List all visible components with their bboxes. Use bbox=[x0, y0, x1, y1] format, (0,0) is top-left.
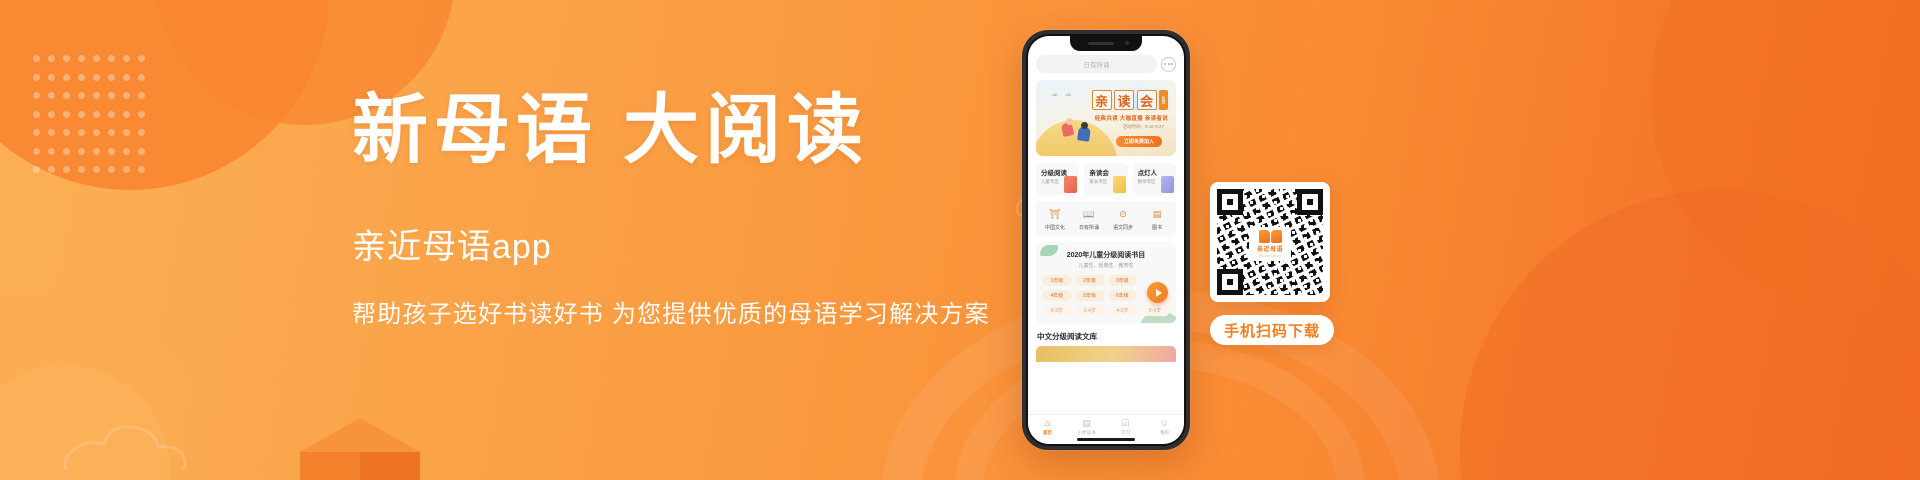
background-blob-bottom-left-2 bbox=[0, 365, 170, 480]
promo-char-1: 亲 bbox=[1092, 90, 1112, 110]
library-section-title: 中文分级阅读文库 bbox=[1036, 331, 1176, 342]
promo-char-2: 读 bbox=[1114, 90, 1134, 110]
promo-banner: 新母语 大阅读 亲近母语app 帮助孩子选好书读好书 为您提供优质的母语学习解决… bbox=[0, 0, 1920, 480]
promo-card[interactable]: ᨒ ᨒ 亲 读 会 免费 经典共读 大咖直播 亲读者说 活动时间：9.16-9 bbox=[1036, 80, 1176, 156]
search-bar: 日有所诵 bbox=[1036, 55, 1176, 73]
brand-pinyin: QINJIN MUYU bbox=[1259, 254, 1282, 258]
promo-join-button[interactable]: 立即免费加入 bbox=[1116, 136, 1162, 147]
book-icon: ▤ bbox=[1082, 419, 1091, 428]
phone-mockup: 日有所诵 ᨒ ᨒ 亲 读 会 bbox=[1022, 30, 1190, 450]
person-icon bbox=[1161, 176, 1174, 193]
promo-title: 亲 读 会 免费 bbox=[1092, 90, 1169, 110]
book-open-icon: 📖 bbox=[1082, 207, 1096, 221]
tab-home[interactable]: ⌂ 首页 bbox=[1028, 419, 1067, 436]
category-cards: 分级阅读 儿童专区 亲读会 家长专区 点灯人 教师专区 bbox=[1036, 163, 1176, 195]
sync-icon: ⊙ bbox=[1116, 207, 1130, 221]
qr-code[interactable]: 亲近母语 QINJIN MUYU bbox=[1217, 189, 1323, 295]
qr-finder-bottom-left bbox=[1217, 269, 1243, 295]
qr-finder-top-left bbox=[1217, 189, 1243, 215]
background-blob-bottom-left bbox=[0, 290, 210, 480]
tab-label: 小步读书 bbox=[1078, 430, 1096, 436]
search-input[interactable]: 日有所诵 bbox=[1036, 55, 1157, 73]
phone-bezel: 日有所诵 ᨒ ᨒ 亲 读 会 bbox=[1026, 34, 1186, 446]
library-cover-strip[interactable] bbox=[1036, 346, 1176, 362]
category-card-graded-reading[interactable]: 分级阅读 儿童专区 bbox=[1036, 163, 1079, 195]
grade-chip[interactable]: 2年级 bbox=[1075, 275, 1105, 286]
promo-free-tag: 免费 bbox=[1159, 90, 1168, 110]
home-icon: ⌂ bbox=[1045, 419, 1050, 428]
library-icon: ▤ bbox=[1150, 207, 1164, 221]
promo-date: 活动时间：9.16-9.27 bbox=[1122, 124, 1164, 130]
tab-label: 首页 bbox=[1043, 430, 1052, 436]
age-chip[interactable]: 5-6岁 bbox=[1140, 305, 1170, 316]
promo-subtitle: 经典共读 大咖直播 亲读者说 bbox=[1095, 114, 1168, 122]
tab-reading[interactable]: ▤ 小步读书 bbox=[1067, 419, 1106, 436]
booklist-title: 2020年儿童分级阅读书目 bbox=[1042, 250, 1170, 260]
book-logo-icon bbox=[1259, 230, 1282, 243]
tab-label: 学习 bbox=[1121, 430, 1130, 436]
qr-card: 亲近母语 QINJIN MUYU bbox=[1210, 182, 1330, 302]
banner-copy: 新母语 大阅读 亲近母语app 帮助孩子选好书读好书 为您提供优质的母语学习解决… bbox=[352, 92, 1032, 329]
more-options-icon[interactable] bbox=[1161, 57, 1176, 72]
child-head-1 bbox=[1066, 118, 1073, 125]
quick-link-textbook-sync[interactable]: ⊙ 语文同步 bbox=[1106, 207, 1140, 231]
quick-link-chinese-culture[interactable]: ⛩ 中国文化 bbox=[1038, 207, 1072, 231]
promo-char-3: 会 bbox=[1137, 90, 1157, 110]
age-chip[interactable]: 3-4岁 bbox=[1075, 305, 1105, 316]
download-button[interactable]: 手机扫码下载 bbox=[1210, 315, 1334, 345]
tab-study[interactable]: ☑ 学习 bbox=[1106, 419, 1145, 436]
home-indicator bbox=[1077, 438, 1135, 441]
tagline: 帮助孩子选好书读好书 为您提供优质的母语学习解决方案 bbox=[352, 294, 1032, 329]
qr-center-logo: 亲近母语 QINJIN MUYU bbox=[1249, 227, 1291, 261]
grade-chip[interactable]: 5年级 bbox=[1075, 290, 1105, 301]
grade-chip[interactable]: 4年级 bbox=[1042, 290, 1072, 301]
background-blob-top-right bbox=[1650, 0, 1920, 310]
child-head-2 bbox=[1081, 122, 1088, 129]
birds-icon: ᨒ ᨒ bbox=[1052, 92, 1075, 98]
quick-link-label: 日有所诵 bbox=[1079, 224, 1099, 231]
grade-chip[interactable]: 1年级 bbox=[1042, 275, 1072, 286]
phone-notch bbox=[1070, 36, 1142, 51]
user-icon: ☺ bbox=[1160, 419, 1169, 428]
tab-profile[interactable]: ☺ 我的 bbox=[1145, 419, 1184, 436]
book-icon bbox=[1113, 176, 1126, 193]
quick-link-daily-recite[interactable]: 📖 日有所诵 bbox=[1072, 207, 1106, 231]
cube-decoration bbox=[300, 418, 420, 480]
play-button[interactable] bbox=[1147, 282, 1168, 303]
booklist-subtitle: 儿童性、经典性、教育性 bbox=[1042, 262, 1170, 269]
quick-link-label: 语文同步 bbox=[1113, 224, 1133, 231]
brand-name: 亲近母语 bbox=[1257, 244, 1283, 253]
app-name: 亲近母语app bbox=[352, 219, 1032, 268]
quick-link-books[interactable]: ▤ 图书 bbox=[1140, 207, 1174, 231]
background-blob-bottom-right bbox=[1460, 190, 1920, 480]
temple-icon: ⛩ bbox=[1048, 207, 1062, 221]
quick-link-label: 中国文化 bbox=[1045, 224, 1065, 231]
qr-finder-top-right bbox=[1297, 189, 1323, 215]
quick-links-row: ⛩ 中国文化 📖 日有所诵 ⊙ 语文同步 ▤ bbox=[1036, 201, 1176, 236]
page-title: 新母语 大阅读 bbox=[352, 92, 1032, 171]
book-icon bbox=[1064, 176, 1077, 193]
speaker-icon bbox=[1088, 42, 1114, 45]
age-chip[interactable]: 0-3岁 bbox=[1042, 305, 1072, 316]
category-card-teacher[interactable]: 点灯人 教师专区 bbox=[1133, 163, 1176, 195]
tab-label: 我的 bbox=[1160, 430, 1169, 436]
background-blob-top-left bbox=[0, 0, 330, 190]
phone-screen: 日有所诵 ᨒ ᨒ 亲 读 会 bbox=[1028, 36, 1184, 444]
booklist-section: 2020年儿童分级阅读书目 儿童性、经典性、教育性 1年级 2年级 3年级 4年… bbox=[1036, 242, 1176, 323]
camera-icon bbox=[1125, 41, 1129, 45]
grade-chip[interactable]: 6年级 bbox=[1108, 290, 1138, 301]
grade-chip[interactable]: 3年级 bbox=[1108, 275, 1138, 286]
qr-download-block: 亲近母语 QINJIN MUYU 手机扫码下载 bbox=[1210, 182, 1334, 345]
quick-link-label: 图书 bbox=[1152, 224, 1162, 231]
category-card-parent-club[interactable]: 亲读会 家长专区 bbox=[1084, 163, 1127, 195]
dot-grid-pattern bbox=[33, 55, 153, 185]
age-chip[interactable]: 4-5岁 bbox=[1108, 305, 1138, 316]
cloud-swirl-icon-2 bbox=[60, 410, 210, 470]
checklist-icon: ☑ bbox=[1121, 419, 1129, 428]
